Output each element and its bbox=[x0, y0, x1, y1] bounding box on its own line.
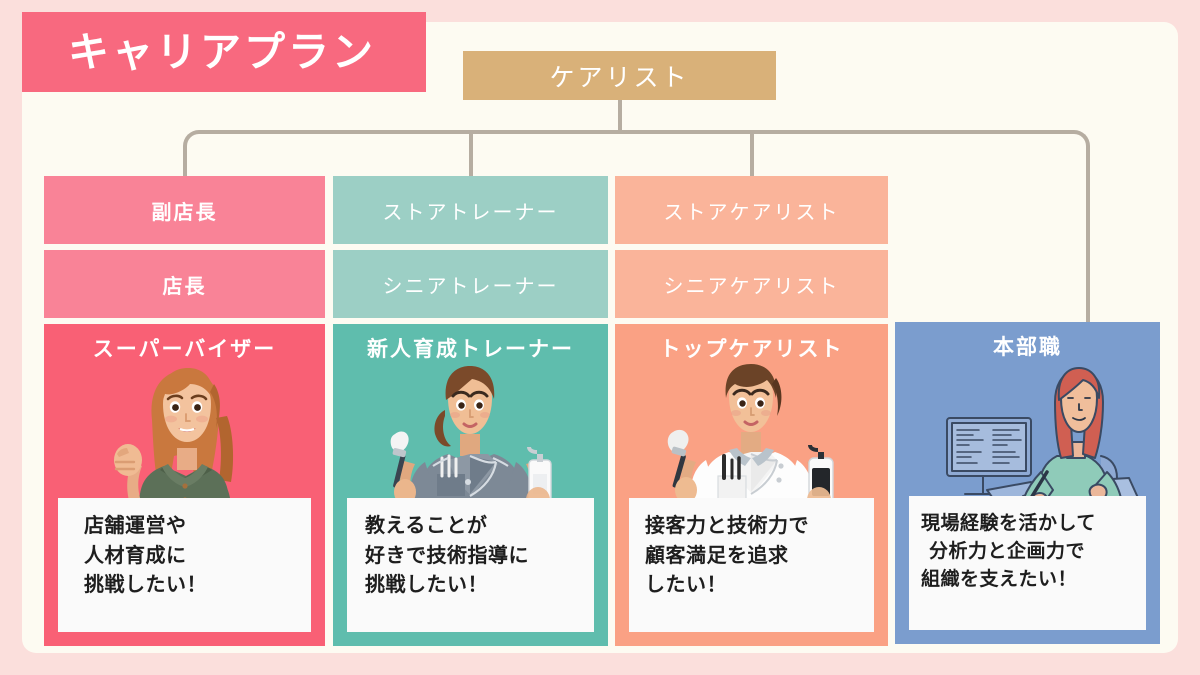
rank-box-store-carelist[interactable]: ストアケアリスト bbox=[615, 176, 888, 244]
caption-line: 挑戦したい！ bbox=[365, 571, 584, 601]
card-title: スーパーバイザー bbox=[58, 338, 311, 361]
card-title: 新人育成トレーナー bbox=[347, 338, 594, 361]
career-plan-diagram: キャリアプラン ケアリスト 副店長 店長 スーパーバイザー bbox=[0, 0, 1200, 675]
rank-label: ストアケアリスト bbox=[664, 196, 840, 225]
caption-line: 分析力と企画力で bbox=[921, 538, 1136, 566]
rank-label: シニアトレーナー bbox=[383, 270, 559, 299]
caption-line: 教えることが bbox=[365, 512, 584, 542]
rank-box-manager[interactable]: 店長 bbox=[44, 250, 325, 318]
rank-label: 副店長 bbox=[152, 196, 218, 225]
column-head-office: 本部職 bbox=[895, 322, 1160, 644]
caption-line: 人材育成に bbox=[84, 542, 301, 572]
connector-horizontal-bus bbox=[183, 130, 1090, 172]
card-top-carelist[interactable]: トップケアリスト bbox=[615, 324, 888, 646]
beautician-gray-uniform-icon bbox=[333, 362, 608, 518]
card-head-office[interactable]: 本部職 bbox=[895, 322, 1160, 644]
caption-line: 現場経験を活かして bbox=[921, 510, 1136, 538]
caption-line: したい！ bbox=[645, 571, 864, 601]
column-trainer: ストアトレーナー シニアトレーナー 新人育成トレーナー bbox=[333, 176, 608, 646]
connector-drop-column-4 bbox=[1086, 150, 1090, 322]
card-supervisor[interactable]: スーパーバイザー bbox=[44, 324, 325, 646]
connector-drop-column-2 bbox=[469, 132, 473, 176]
page-title-banner: キャリアプラン bbox=[22, 12, 426, 92]
rank-box-deputy-manager[interactable]: 副店長 bbox=[44, 176, 325, 244]
caption-line: 店舗運営や bbox=[84, 512, 301, 542]
rank-label: 店長 bbox=[163, 270, 207, 299]
rank-box-store-trainer[interactable]: ストアトレーナー bbox=[333, 176, 608, 244]
card-new-employee-trainer[interactable]: 新人育成トレーナー bbox=[333, 324, 608, 646]
woman-fist-pump-icon bbox=[44, 362, 325, 518]
caption-line: 組織を支えたい！ bbox=[921, 566, 1136, 594]
connector-drop-column-1 bbox=[183, 148, 187, 176]
rank-box-senior-carelist[interactable]: シニアケアリスト bbox=[615, 250, 888, 318]
page-title: キャリアプラン bbox=[22, 32, 376, 73]
rank-box-senior-trainer[interactable]: シニアトレーナー bbox=[333, 250, 608, 318]
column-carelist: ストアケアリスト シニアケアリスト トップケアリスト bbox=[615, 176, 888, 646]
card-caption: 教えることが 好きで技術指導に 挑戦したい！ bbox=[347, 498, 594, 632]
card-title: 本部職 bbox=[909, 336, 1146, 359]
woman-at-desk-icon bbox=[895, 360, 1160, 516]
caption-line: 接客力と技術力で bbox=[645, 512, 864, 542]
root-node-label: ケアリスト bbox=[549, 58, 689, 94]
rank-label: ストアトレーナー bbox=[383, 196, 559, 225]
card-caption: 接客力と技術力で 顧客満足を追求 したい！ bbox=[629, 498, 874, 632]
caption-line: 好きで技術指導に bbox=[365, 542, 584, 572]
column-store-management: 副店長 店長 スーパーバイザー bbox=[44, 176, 325, 646]
caption-line: 顧客満足を追求 bbox=[645, 542, 864, 572]
rank-label: シニアケアリスト bbox=[664, 270, 840, 299]
card-title: トップケアリスト bbox=[629, 338, 874, 361]
beautician-white-uniform-icon bbox=[615, 362, 888, 518]
connector-drop-column-3 bbox=[750, 132, 754, 176]
root-node-carelist: ケアリスト bbox=[463, 51, 776, 100]
connector-root-stem bbox=[618, 100, 622, 133]
caption-line: 挑戦したい！ bbox=[84, 571, 301, 601]
card-caption: 店舗運営や 人材育成に 挑戦したい！ bbox=[58, 498, 311, 632]
card-caption: 現場経験を活かして 分析力と企画力で 組織を支えたい！ bbox=[909, 496, 1146, 630]
